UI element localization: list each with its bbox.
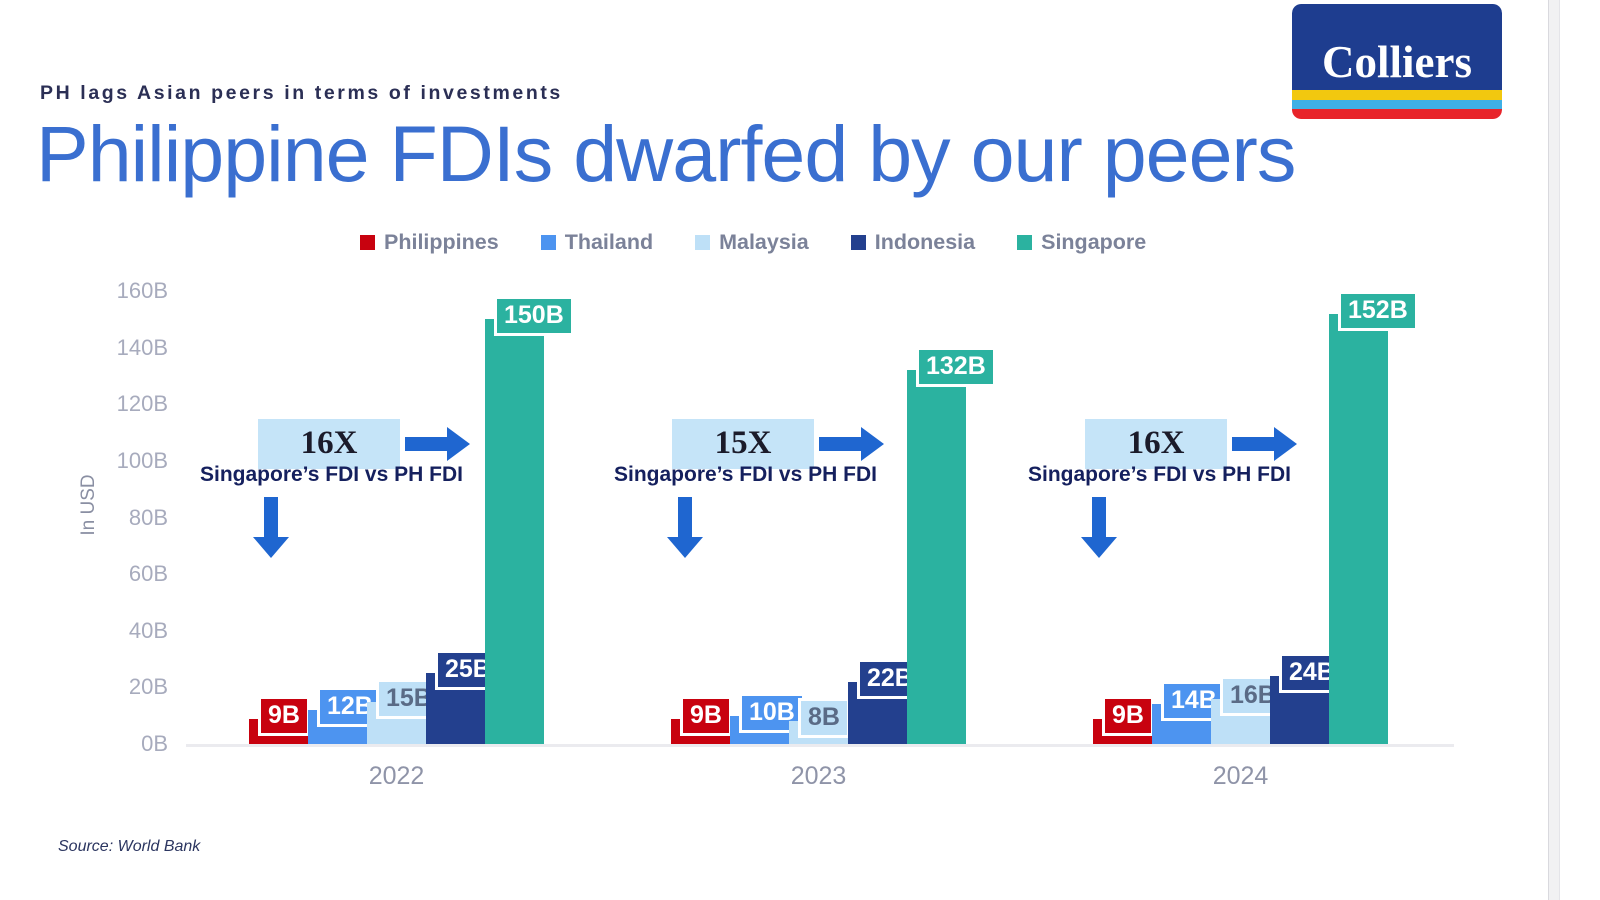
arrow-right-icon: [405, 426, 471, 467]
y-axis-tick-label: 160B: [88, 278, 168, 304]
annotation-caption: Singapore’s FDI vs PH FDI: [614, 463, 877, 487]
data-label-singapore-2023: 132B: [919, 350, 993, 384]
source-note: Source: World Bank: [58, 838, 200, 856]
data-label-singapore-2022: 150B: [497, 299, 571, 333]
x-axis-tick-label-2024: 2024: [1141, 762, 1341, 791]
y-axis-tick-label: 120B: [88, 391, 168, 417]
x-axis-baseline: [186, 744, 1454, 747]
bar-singapore-2022[interactable]: [485, 319, 544, 744]
arrow-down-icon: [1080, 497, 1118, 564]
annotation-multiple-badge: 15X: [672, 419, 814, 469]
data-label-philippines-2023: 9B: [683, 699, 729, 733]
bar-singapore-2023[interactable]: [907, 370, 966, 744]
arrow-right-icon: [1232, 426, 1298, 467]
x-axis-tick-label-2023: 2023: [719, 762, 919, 791]
chart-plot-area: In USD 0B20B40B60B80B100B120B140B160B 20…: [0, 0, 1548, 900]
annotation-multiple-badge: 16X: [258, 419, 400, 469]
y-axis-tick-label: 20B: [88, 674, 168, 700]
y-axis-tick-label: 100B: [88, 448, 168, 474]
y-axis-tick-label: 40B: [88, 618, 168, 644]
data-label-philippines-2024: 9B: [1105, 699, 1151, 733]
y-axis-tick-label: 140B: [88, 335, 168, 361]
page-right-edge-inner: [1559, 0, 1600, 900]
data-label-malaysia-2023: 8B: [801, 701, 847, 735]
x-axis-tick-label-2022: 2022: [297, 762, 497, 791]
y-axis-tick-label: 60B: [88, 561, 168, 587]
y-axis-tick-label: 0B: [88, 731, 168, 757]
arrow-down-icon: [666, 497, 704, 564]
arrow-down-icon: [252, 497, 290, 564]
data-label-singapore-2024: 152B: [1341, 294, 1415, 328]
annotation-multiple-badge: 16X: [1085, 419, 1227, 469]
annotation-caption: Singapore’s FDI vs PH FDI: [200, 463, 463, 487]
page-right-edge: [1548, 0, 1600, 900]
y-axis-ticks: 0B20B40B60B80B100B120B140B160B: [80, 0, 168, 900]
y-axis-tick-label: 80B: [88, 505, 168, 531]
annotation-caption: Singapore’s FDI vs PH FDI: [1028, 463, 1291, 487]
arrow-right-icon: [819, 426, 885, 467]
data-label-philippines-2022: 9B: [261, 699, 307, 733]
bar-singapore-2024[interactable]: [1329, 314, 1388, 744]
slide-canvas: PH lags Asian peers in terms of investme…: [0, 0, 1548, 900]
